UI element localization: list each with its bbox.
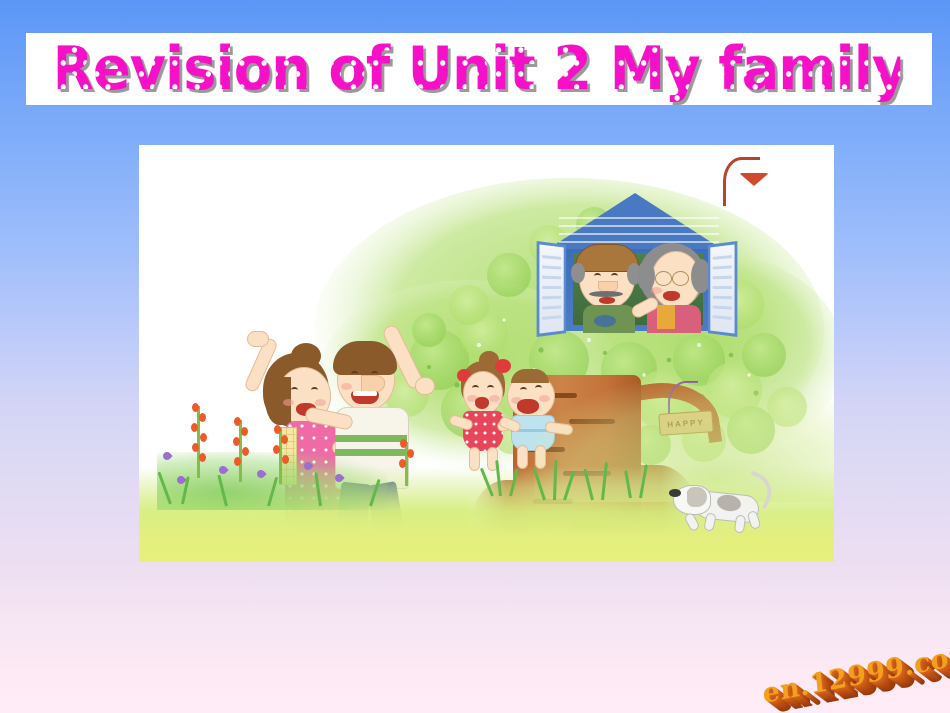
- family-illustration: HAPPY: [139, 145, 834, 562]
- window-shutter-right: [708, 241, 737, 337]
- roof-lines: [559, 213, 719, 253]
- lamp-shade: [739, 173, 769, 186]
- illustration-scene: HAPPY: [139, 145, 834, 562]
- watermark-text: en.12999.com: [761, 637, 950, 710]
- page-title: Revision of Unit 2 My family: [58, 33, 901, 105]
- window-shutter-left: [537, 241, 566, 337]
- title-banner: Revision of Unit 2 My family: [26, 33, 932, 105]
- watermark: en.12999.com: [785, 628, 950, 713]
- presentation-slide: Revision of Unit 2 My family: [0, 0, 950, 713]
